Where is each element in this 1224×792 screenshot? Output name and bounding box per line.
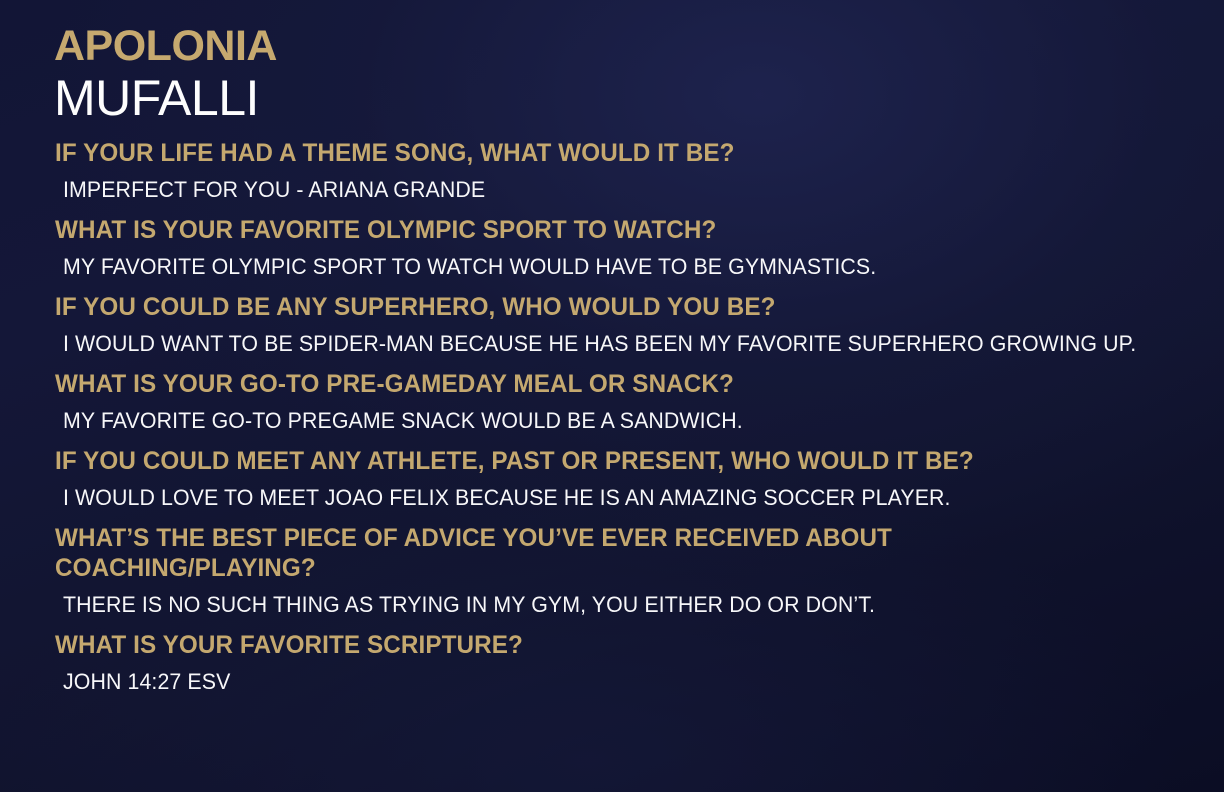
qa-answer: I WOULD LOVE TO MEET JOAO FELIX BECAUSE … [63,484,1174,512]
qa-question: IF YOU COULD MEET ANY ATHLETE, PAST OR P… [55,446,1170,476]
qa-question: WHAT IS YOUR FAVORITE SCRIPTURE? [55,630,1170,660]
player-last-name: MUFALLI [54,71,277,125]
qa-question: WHAT’S THE BEST PIECE OF ADVICE YOU’VE E… [55,523,1073,583]
qa-item: IF YOUR LIFE HAD A THEME SONG, WHAT WOUL… [0,138,1224,204]
qa-answer: IMPERFECT FOR YOU - ARIANA GRANDE [63,176,1174,204]
qa-answer: JOHN 14:27 ESV [63,668,1174,696]
player-first-name: APOLONIA [54,22,277,70]
qa-answer: THERE IS NO SUCH THING AS TRYING IN MY G… [63,591,1174,619]
qa-question: WHAT IS YOUR FAVORITE OLYMPIC SPORT TO W… [55,215,1170,245]
qa-item: WHAT’S THE BEST PIECE OF ADVICE YOU’VE E… [0,523,1224,619]
qa-answer: I WOULD WANT TO BE SPIDER-MAN BECAUSE HE… [63,330,1174,358]
question-answer-list: IF YOUR LIFE HAD A THEME SONG, WHAT WOUL… [0,138,1224,696]
qa-item: IF YOU COULD BE ANY SUPERHERO, WHO WOULD… [0,292,1224,358]
qa-question: IF YOUR LIFE HAD A THEME SONG, WHAT WOUL… [55,138,1170,168]
qa-question: WHAT IS YOUR GO-TO PRE-GAMEDAY MEAL OR S… [55,369,1170,399]
player-name-block: APOLONIA MUFALLI [54,22,277,125]
qa-item: WHAT IS YOUR FAVORITE OLYMPIC SPORT TO W… [0,215,1224,281]
qa-item: WHAT IS YOUR GO-TO PRE-GAMEDAY MEAL OR S… [0,369,1224,435]
qa-item: WHAT IS YOUR FAVORITE SCRIPTURE? JOHN 14… [0,630,1224,696]
qa-item: IF YOU COULD MEET ANY ATHLETE, PAST OR P… [0,446,1224,512]
player-profile-graphic: APOLONIA MUFALLI IF YOUR LIFE HAD A THEM… [0,0,1224,792]
qa-answer: MY FAVORITE GO-TO PREGAME SNACK WOULD BE… [63,407,1174,435]
qa-question: IF YOU COULD BE ANY SUPERHERO, WHO WOULD… [55,292,1170,322]
qa-answer: MY FAVORITE OLYMPIC SPORT TO WATCH WOULD… [63,253,1174,281]
